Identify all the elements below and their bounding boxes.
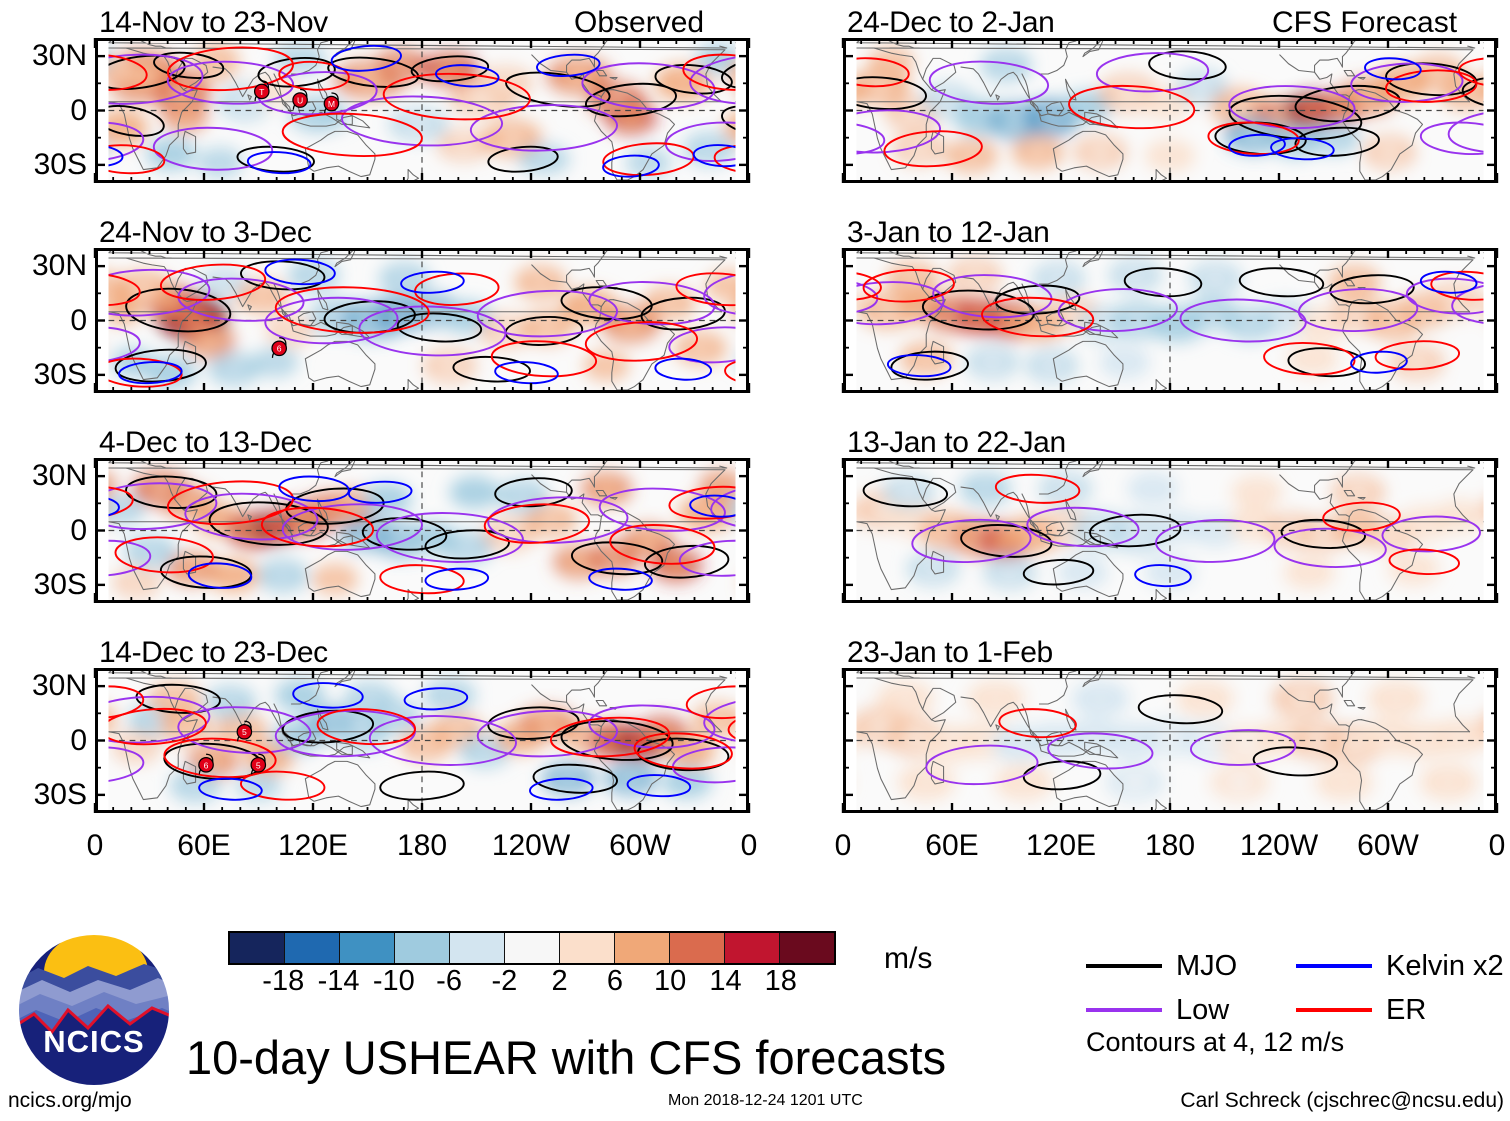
colorbar-swatch-8 [670, 933, 725, 963]
colorbar [228, 931, 836, 965]
colorbar-swatch-4 [450, 933, 505, 963]
x-tick-label: 120W [471, 831, 591, 861]
colorbar-tick-label: 18 [765, 967, 797, 996]
colorbar-swatch-0 [230, 933, 285, 963]
figure-title: 10-day USHEAR with CFS forecasts [186, 1034, 946, 1081]
svg-text:5: 5 [256, 760, 261, 770]
map-area-fcst-3 [843, 458, 1497, 603]
x-tick-label: 0 [1437, 831, 1510, 861]
y-tick-label: 30S [3, 150, 87, 180]
svg-text:6: 6 [277, 344, 282, 354]
panel-title-obs-4: 14-Dec to 23-Dec [99, 638, 328, 668]
legend-item-kelvin-x2: Kelvin x2 [1296, 952, 1506, 981]
map-area-obs-3 [95, 458, 749, 603]
panel-title-fcst-4: 23-Jan to 1-Feb [847, 638, 1053, 668]
column-header-forecast: CFS Forecast [1272, 8, 1457, 38]
colorbar-swatch-5 [505, 933, 560, 963]
colorbar-ticks: -18-14-10-6-226101418 [228, 967, 836, 999]
colorbar-swatch-9 [725, 933, 780, 963]
map-area-fcst-1 [843, 38, 1497, 183]
panel-title-fcst-2: 3-Jan to 12-Jan [847, 218, 1049, 248]
map-area-fcst-2 [843, 248, 1497, 393]
legend-label: Kelvin x2 [1386, 952, 1504, 981]
site-url-label: ncics.org/mjo [8, 1090, 132, 1111]
colorbar-tick-label: 14 [709, 967, 741, 996]
column-header-observed: Observed [574, 8, 704, 38]
legend-line-swatch [1296, 1008, 1372, 1012]
colorbar-swatch-7 [615, 933, 670, 963]
colorbar-swatch-1 [285, 933, 340, 963]
timestamp-label: Mon 2018-12-24 1201 UTC [668, 1093, 863, 1109]
svg-text:M: M [328, 99, 335, 109]
legend-item-mjo: MJO [1086, 952, 1296, 981]
colorbar-tick-label: -2 [491, 967, 517, 996]
x-tick-label: 60E [144, 831, 264, 861]
colorbar-swatch-6 [560, 933, 615, 963]
colorbar-swatch-3 [395, 933, 450, 963]
colorbar-tick-label: 6 [607, 967, 623, 996]
svg-text:U: U [297, 96, 303, 106]
y-tick-label: 30S [3, 570, 87, 600]
x-tick-label: 180 [1110, 831, 1230, 861]
y-tick-label: 30N [3, 251, 87, 281]
svg-text:5: 5 [242, 727, 247, 737]
colorbar-tick-label: -14 [318, 967, 360, 996]
x-tick-label: 0 [783, 831, 903, 861]
contour-note: Contours at 4, 12 m/s [1086, 1029, 1344, 1056]
x-tick-label: 60W [580, 831, 700, 861]
y-tick-label: 0 [3, 96, 87, 126]
colorbar-swatch-10 [780, 933, 834, 963]
y-tick-label: 30N [3, 671, 87, 701]
logo-text: NCICS [12, 1026, 176, 1057]
y-tick-label: 0 [3, 726, 87, 756]
colorbar-tick-label: -10 [373, 967, 415, 996]
x-tick-label: 120E [253, 831, 373, 861]
panel-title-obs-2: 24-Nov to 3-Dec [99, 218, 311, 248]
colorbar-tick-label: 2 [552, 967, 568, 996]
legend-label: Low [1176, 996, 1229, 1025]
colorbar-swatch-2 [340, 933, 395, 963]
map-area-obs-2: 6 [95, 248, 749, 393]
y-tick-label: 30N [3, 41, 87, 71]
legend-line-swatch [1086, 964, 1162, 968]
panel-title-fcst-3: 13-Jan to 22-Jan [847, 428, 1066, 458]
map-area-obs-1: TUM [95, 38, 749, 183]
y-tick-label: 0 [3, 516, 87, 546]
map-area-fcst-4 [843, 668, 1497, 813]
colorbar-tick-label: -6 [436, 967, 462, 996]
svg-text:6: 6 [204, 760, 209, 770]
panel-title-obs-1: 14-Nov to 23-Nov [99, 8, 328, 38]
map-area-obs-4: 565 [95, 668, 749, 813]
legend-line-swatch [1086, 1008, 1162, 1012]
wave-legend: MJOKelvin x2LowER [1086, 944, 1506, 1032]
x-tick-label: 60W [1328, 831, 1448, 861]
colorbar-tick-label: 10 [654, 967, 686, 996]
colorbar-units-label: m/s [884, 944, 932, 974]
ncics-logo: NCICS [12, 928, 176, 1092]
x-tick-label: 120W [1219, 831, 1339, 861]
y-tick-label: 30S [3, 780, 87, 810]
x-tick-label: 180 [362, 831, 482, 861]
panel-title-obs-3: 4-Dec to 13-Dec [99, 428, 311, 458]
legend-label: ER [1386, 996, 1426, 1025]
figure-canvas: 14-Nov to 23-NovObservedTUM30N030S24-Nov… [0, 0, 1510, 1121]
y-tick-label: 30S [3, 360, 87, 390]
y-tick-label: 30N [3, 461, 87, 491]
colorbar-tick-label: -18 [262, 967, 304, 996]
legend-label: MJO [1176, 952, 1237, 981]
panel-title-fcst-1: 24-Dec to 2-Jan [847, 8, 1054, 38]
legend-line-swatch [1296, 964, 1372, 968]
x-tick-label: 0 [35, 831, 155, 861]
svg-text:T: T [259, 87, 265, 97]
y-tick-label: 0 [3, 306, 87, 336]
legend-item-er: ER [1296, 996, 1506, 1025]
x-tick-label: 120E [1001, 831, 1121, 861]
x-tick-label: 60E [892, 831, 1012, 861]
author-label: Carl Schreck (cjschrec@ncsu.edu) [1180, 1090, 1504, 1111]
legend-item-low: Low [1086, 996, 1296, 1025]
